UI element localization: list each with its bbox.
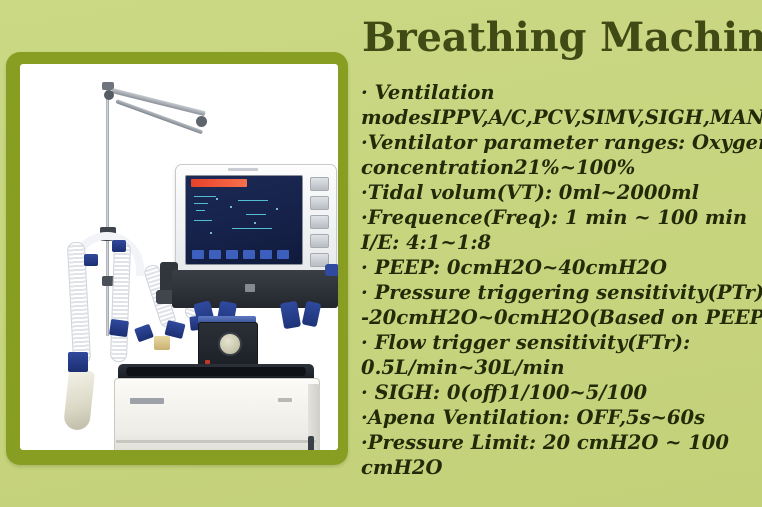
humidifier-dial: [218, 332, 242, 356]
waveform-trace: [194, 220, 212, 221]
spec-line-pressure-limit-1: ·Pressure Limit: 20 cmH2O ~ 100: [361, 430, 762, 455]
gas-port-4: [302, 301, 322, 328]
spec-line-apnea-ventilation: ·Apena Ventilation: OFF,5s~60s: [361, 405, 762, 430]
ventilator-monitor: [175, 164, 337, 274]
monitor-side-buttons: [310, 177, 329, 267]
inline-filter: [154, 336, 170, 350]
screen-marker: [210, 232, 212, 234]
screen-softkey: [260, 250, 272, 259]
spec-line-ventilation-modes-1: · Ventilation: [361, 80, 762, 105]
arm-pivot-joint: [104, 90, 114, 100]
mount-logo: [245, 284, 255, 292]
tube-connector-7: [112, 240, 126, 252]
spec-line-ventilation-modes-2: modesIPPV,A/C,PCV,SIMV,SIGH,MANU: [361, 105, 762, 130]
product-photo: [20, 64, 338, 450]
monitor-button: [310, 196, 329, 210]
tube-connector-2: [109, 319, 129, 337]
spec-line-peep: · PEEP: 0cmH2O~40cmH2O: [361, 255, 762, 280]
spec-line-frequency: ·Frequence(Freq): 1 min ~ 100 min: [361, 205, 762, 230]
arm-end-joint: [196, 116, 207, 127]
spec-line-flow-trigger-sensitivity: · Flow trigger sensitivity(FTr):: [361, 330, 762, 355]
spec-line-oxygen-concentration: concentration21%~100%: [361, 155, 762, 180]
spec-line-ventilator-parameter-ranges: ·Ventilator parameter ranges: Oxygen: [361, 130, 762, 155]
slide-background: Breathing Machine · VentilationmodesIPPV…: [0, 0, 762, 507]
screen-softkey: [277, 250, 289, 259]
alarm-banner: [191, 179, 247, 187]
product-photo-frame: [6, 52, 348, 465]
waveform-trace: [246, 214, 266, 215]
tube-connector-6: [84, 254, 98, 266]
screen-softkey: [209, 250, 221, 259]
cabinet-top-recess: [126, 367, 306, 376]
spec-line-flow-trigger-range: 0.5L/min~30L/min: [361, 355, 762, 380]
tube-connector-3: [134, 324, 154, 343]
spec-line-tidal-volume: ·Tidal volum(VT): 0ml~2000ml: [361, 180, 762, 205]
tube-connector-1: [68, 352, 88, 372]
screen-softkey: [226, 250, 238, 259]
ventilator-illustration: [20, 64, 338, 450]
cabinet-brand-label: [130, 398, 164, 404]
screen-softkey-row: [192, 250, 289, 259]
support-pole: [106, 86, 109, 336]
spec-line-ie-ratio: I/E: 4:1~1:8: [361, 230, 762, 255]
mount-knob: [325, 264, 338, 276]
screen-marker: [230, 206, 232, 208]
waveform-trace: [238, 200, 268, 201]
screen-marker: [216, 198, 218, 200]
caster-support-arm: [308, 436, 314, 450]
specification-panel: Breathing Machine · VentilationmodesIPPV…: [356, 0, 762, 507]
screen-marker: [276, 208, 278, 210]
page-title: Breathing Machine: [362, 18, 762, 58]
waveform-trace: [194, 196, 216, 197]
spec-line-sigh: · SIGH: 0(off)1/100~5/100: [361, 380, 762, 405]
patient-mask: [63, 369, 95, 431]
screen-softkey: [243, 250, 255, 259]
waveform-trace: [194, 203, 208, 204]
screen-marker: [254, 222, 256, 224]
cabinet-seam: [116, 440, 316, 443]
monitor-screen: [185, 175, 303, 265]
waveform-trace: [196, 210, 205, 211]
specification-list: · VentilationmodesIPPV,A/C,PCV,SIMV,SIGH…: [361, 80, 762, 480]
monitor-button: [310, 234, 329, 248]
monitor-brand-strip: [228, 168, 258, 171]
spec-line-pressure-limit-2: cmH2O: [361, 455, 762, 480]
spec-line-pressure-trigger-range: -20cmH2O~0cmH2O(Based on PEEP): [361, 305, 762, 330]
waveform-trace: [232, 228, 272, 229]
spec-line-pressure-trigger-sensitivity: · Pressure triggering sensitivity(PTr):: [361, 280, 762, 305]
cabinet-marking: [278, 398, 292, 402]
monitor-button: [310, 177, 329, 191]
screen-softkey: [192, 250, 204, 259]
monitor-button: [310, 215, 329, 229]
circuit-tube-middle: [110, 242, 131, 363]
